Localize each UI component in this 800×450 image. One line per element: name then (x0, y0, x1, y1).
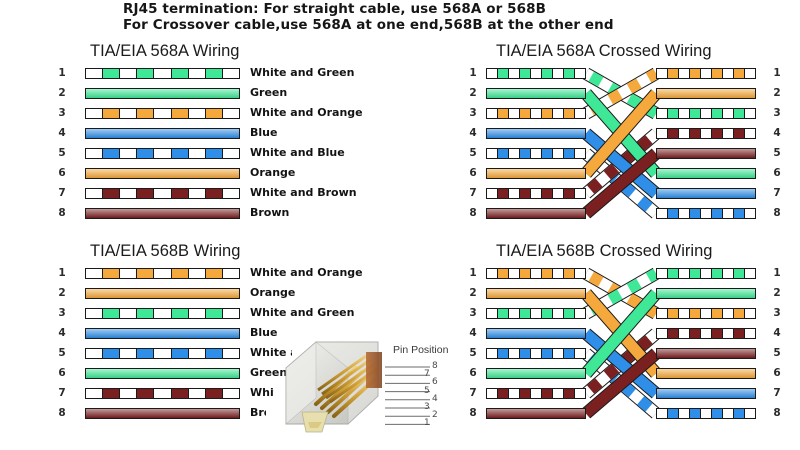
leader-number-5: 5 (424, 386, 430, 396)
diagram-canvas: RJ45 termination: For straight cable, us… (0, 0, 800, 450)
pin-leader-lines (0, 0, 800, 450)
leader-number-3: 3 (424, 402, 430, 412)
leader-number-6: 6 (432, 377, 438, 387)
leader-number-1: 1 (424, 418, 430, 428)
leader-number-4: 4 (432, 394, 438, 404)
leader-number-7: 7 (424, 369, 430, 379)
leader-number-8: 8 (432, 361, 438, 371)
leader-number-2: 2 (432, 410, 438, 420)
